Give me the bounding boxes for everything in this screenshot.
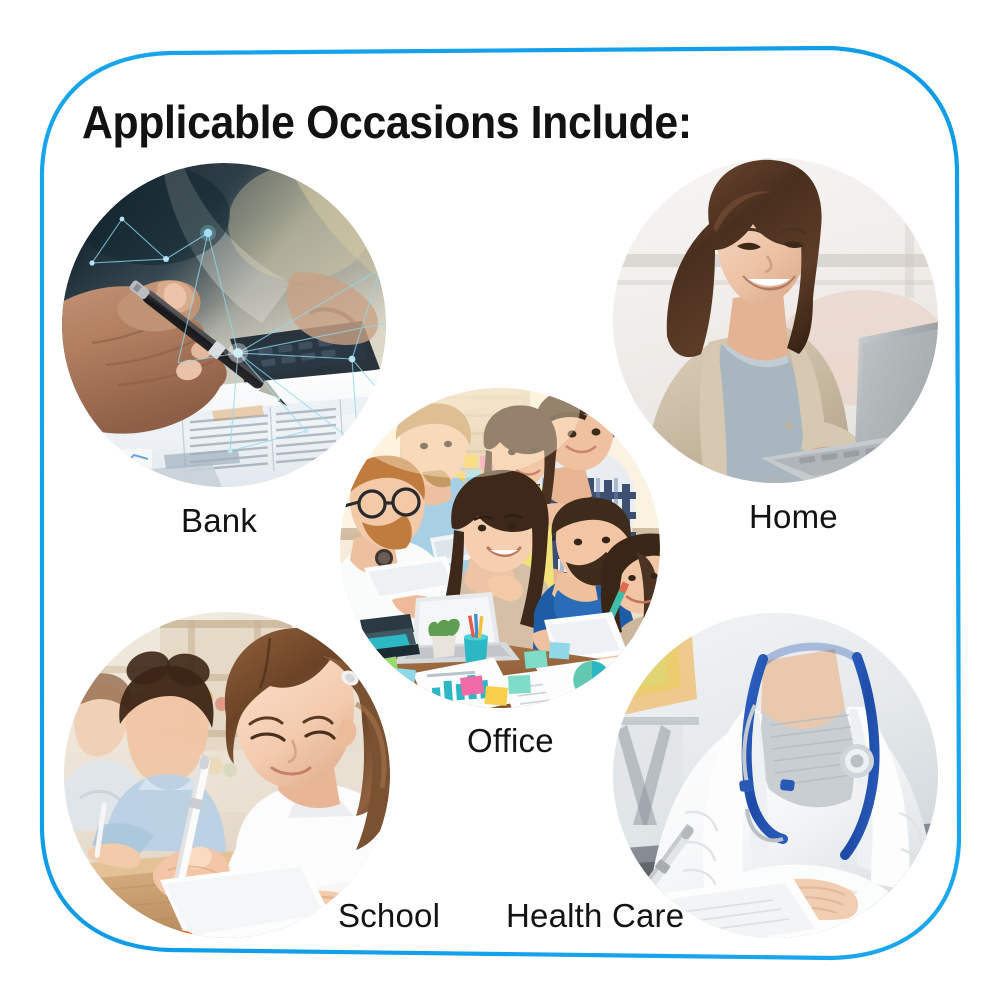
occasion-photo-bank [62, 163, 386, 487]
occasion-label-bank: Bank [181, 502, 257, 540]
occasion-label-office: Office [467, 722, 554, 760]
page-title: Applicable Occasions Include: [82, 95, 692, 149]
occasion-photo-health-care [613, 613, 938, 938]
occasion-photo-office [340, 388, 660, 708]
poster-canvas: Applicable Occasions Include: [0, 0, 1000, 1000]
occasion-photo-home [613, 158, 938, 483]
occasion-label-school: School [338, 897, 440, 935]
occasion-label-health-care: Health Care [506, 897, 684, 935]
occasion-photo-school [64, 612, 390, 938]
occasion-label-home: Home [749, 498, 838, 536]
